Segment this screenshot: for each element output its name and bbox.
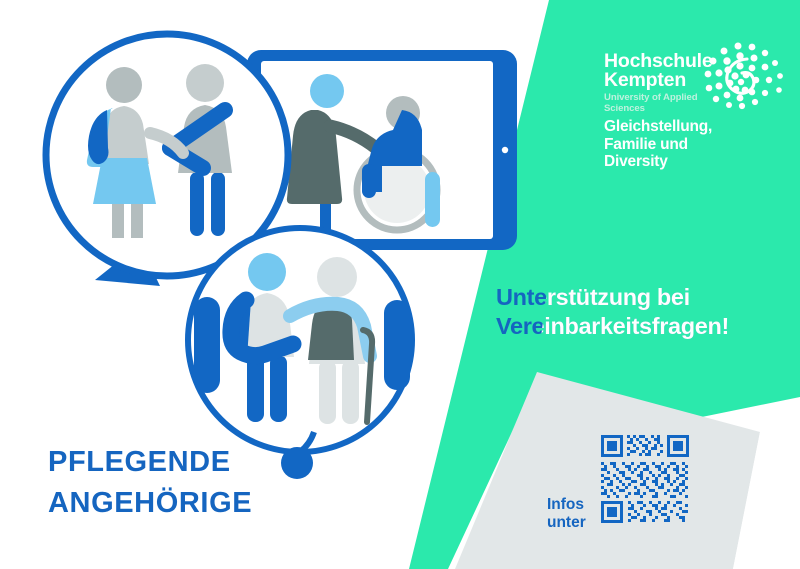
logo-name-line1: Hochschule [604, 52, 724, 71]
page-title: PFLEGENDE ANGEHÖRIGE [48, 442, 252, 524]
poster-canvas: Hochschule Kempten University of Applied… [0, 0, 800, 569]
qr-label-line2: unter [547, 514, 586, 532]
qr-label: Infos unter [547, 496, 586, 532]
department-line3: Diversity [604, 153, 744, 171]
page-title-line2: ANGEHÖRIGE [48, 483, 252, 524]
qr-label-line1: Infos [547, 496, 586, 514]
page-title-line1: PFLEGENDE [48, 442, 252, 483]
logo-subtitle: University of Applied Sciences [604, 92, 724, 114]
logo-name-line2: Kempten [604, 71, 724, 90]
department-line2: Familie und [604, 136, 744, 154]
logo-text-block: Hochschule Kempten University of Applied… [604, 52, 724, 114]
headline: Unterstützung bei Vereinbarkeitsfragen! … [496, 283, 800, 345]
logo-name: Hochschule Kempten [604, 52, 724, 89]
department-block: Gleichstellung, Familie und Diversity [604, 118, 744, 171]
department-line1: Gleichstellung, [604, 118, 744, 136]
